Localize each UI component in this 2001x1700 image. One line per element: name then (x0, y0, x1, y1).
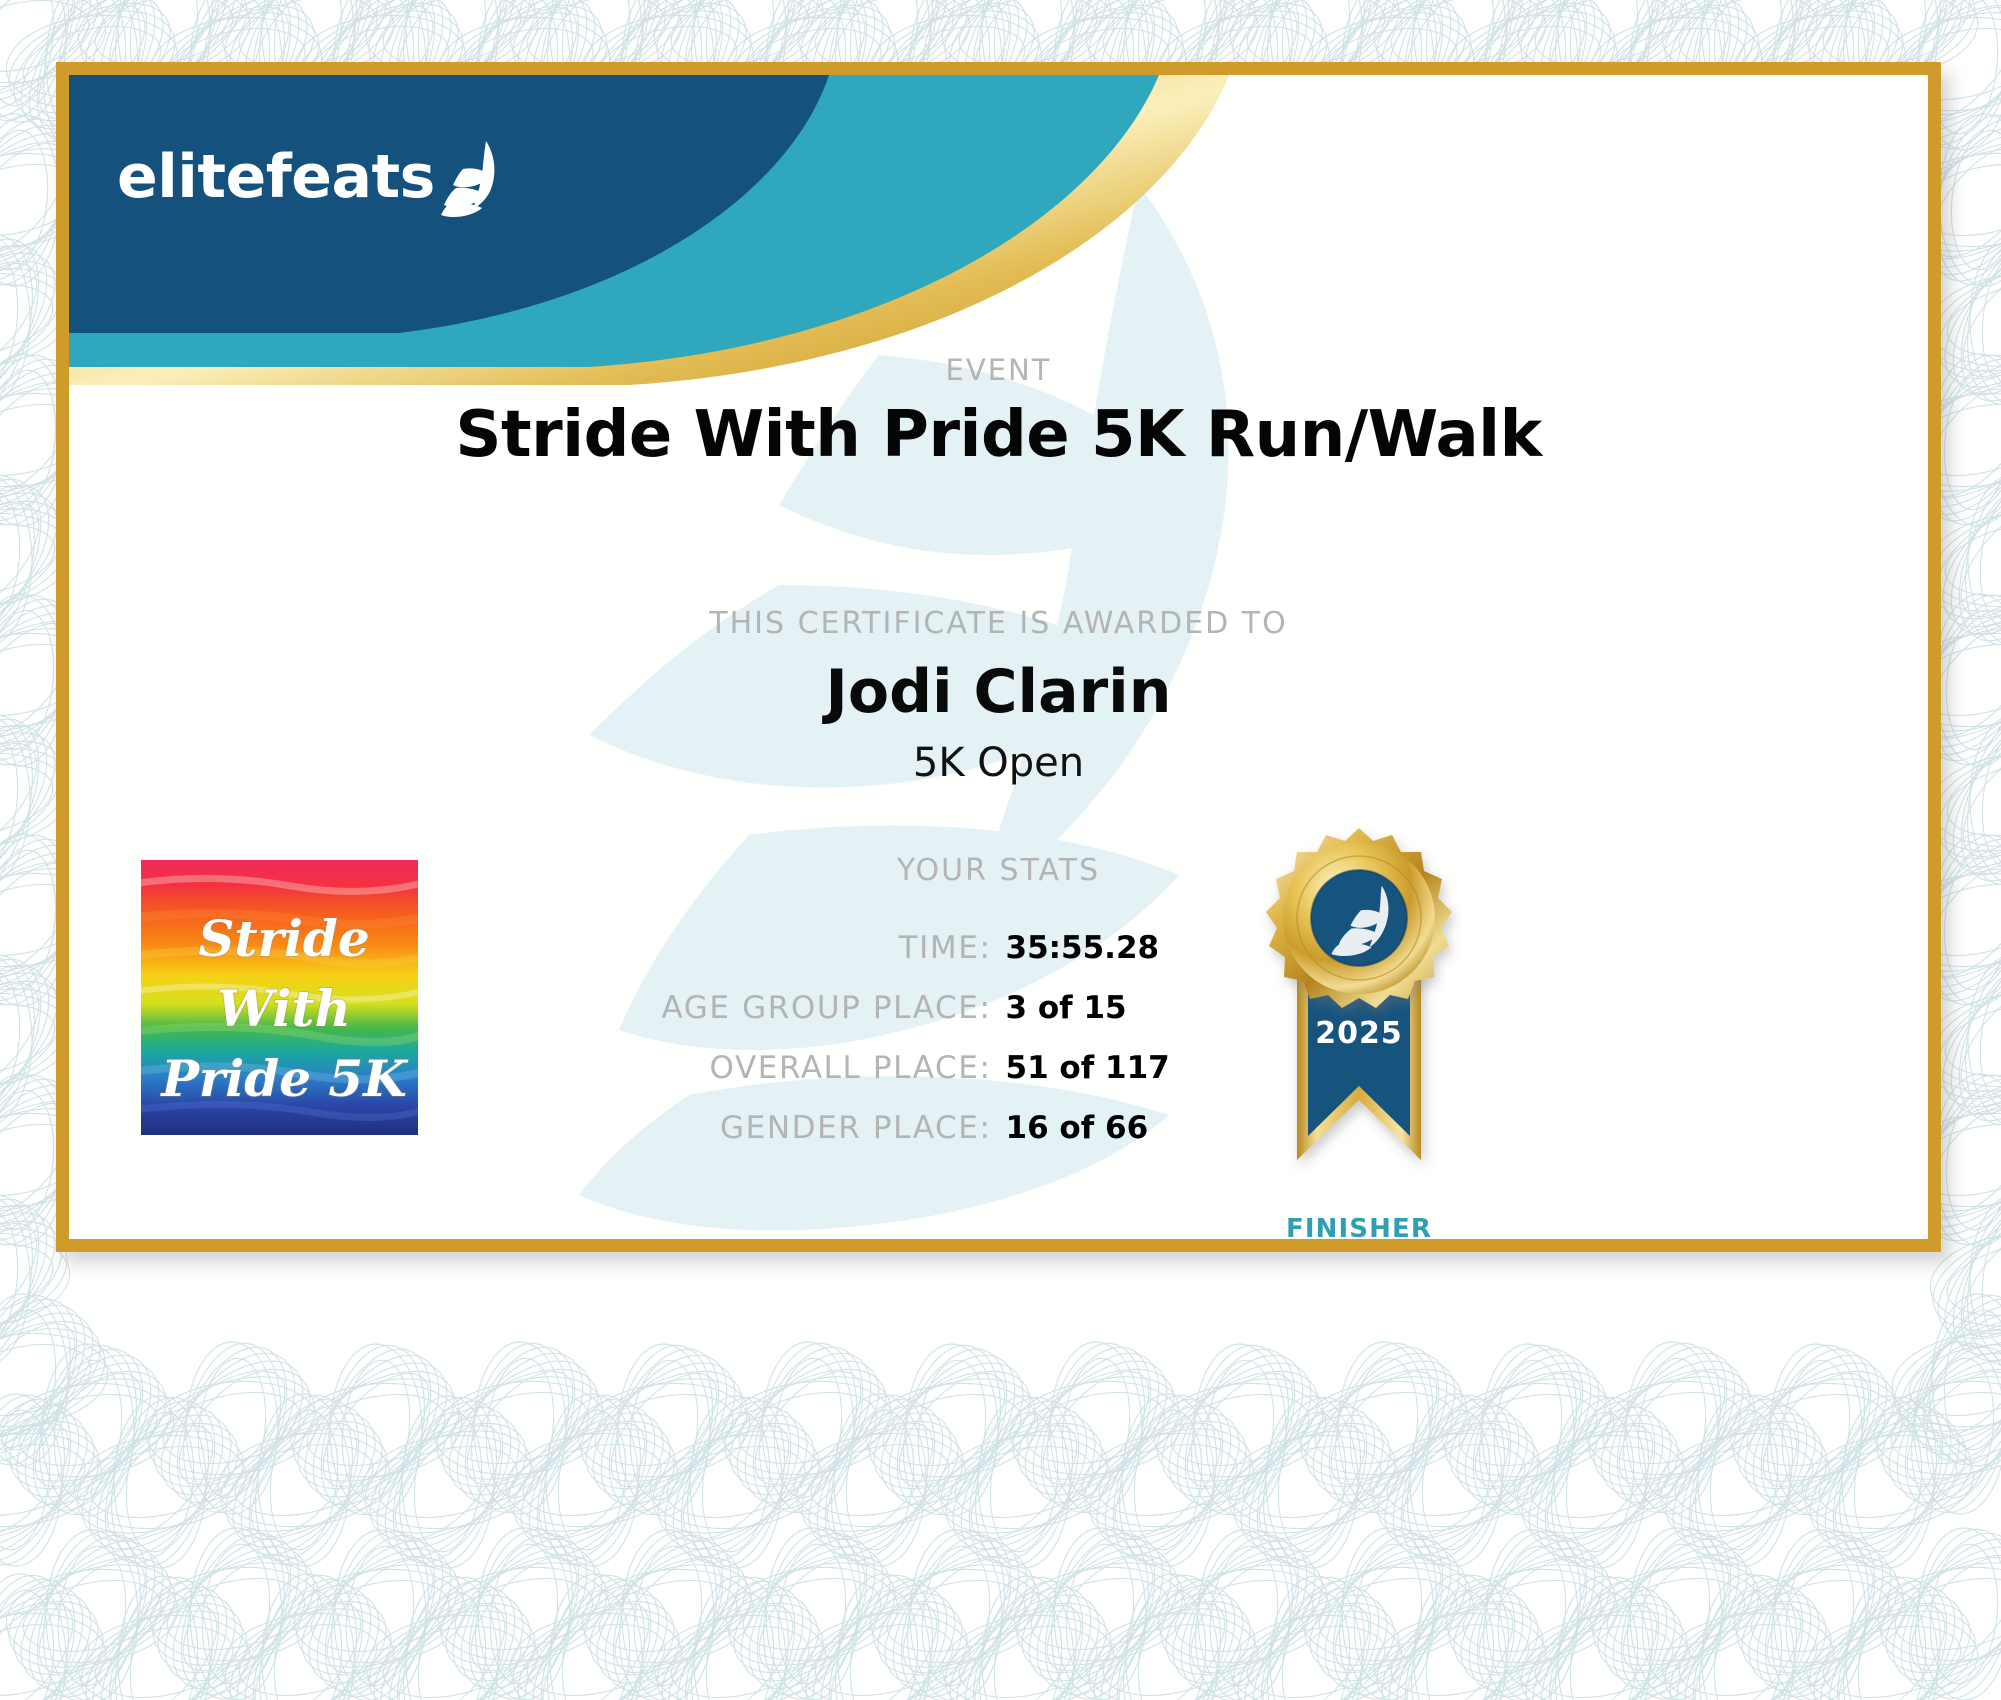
stat-label-overall-place: OVERALL PLACE: (522, 1050, 992, 1086)
recipient-division: 5K Open (69, 740, 1928, 786)
header-swoosh-graphic (69, 75, 1269, 385)
stat-label-age-group-place: AGE GROUP PLACE: (522, 990, 992, 1026)
certificate-body: elitefeats EVENT Stride With Pride 5K Ru… (69, 75, 1928, 1239)
elitefeats-logo: elitefeats (117, 137, 507, 217)
svg-text:Pride 5K: Pride 5K (159, 1049, 409, 1108)
recipient-name: Jodi Clarin (69, 657, 1928, 727)
winged-foot-icon (439, 139, 507, 217)
certificate-page: elitefeats EVENT Stride With Pride 5K Ru… (0, 0, 2001, 1700)
seal-year: 2025 (1315, 1016, 1403, 1051)
race-logo: Stride With Pride 5K (141, 860, 418, 1135)
certificate-frame: elitefeats EVENT Stride With Pride 5K Ru… (56, 62, 1941, 1252)
seal-caption: FINISHER CERTIFICATE (1209, 1215, 1509, 1239)
brand-wordmark: elitefeats (117, 147, 435, 207)
awarded-to-label: THIS CERTIFICATE IS AWARDED TO (69, 606, 1928, 641)
stride-with-pride-5k-rainbow-logo: Stride With Pride 5K (141, 860, 418, 1135)
svg-text:With: With (217, 979, 351, 1038)
stat-label-time: TIME: (522, 930, 992, 966)
seal-caption-line1: FINISHER (1209, 1215, 1509, 1239)
stat-label-gender-place: GENDER PLACE: (522, 1110, 992, 1146)
svg-text:Stride: Stride (198, 909, 369, 968)
event-title: Stride With Pride 5K Run/Walk (69, 398, 1928, 472)
gold-seal-medal-icon: 2025 (1209, 800, 1509, 1200)
event-label: EVENT (69, 353, 1928, 387)
finisher-seal: 2025 FINISHER CERTIFICATE (1209, 800, 1509, 1239)
